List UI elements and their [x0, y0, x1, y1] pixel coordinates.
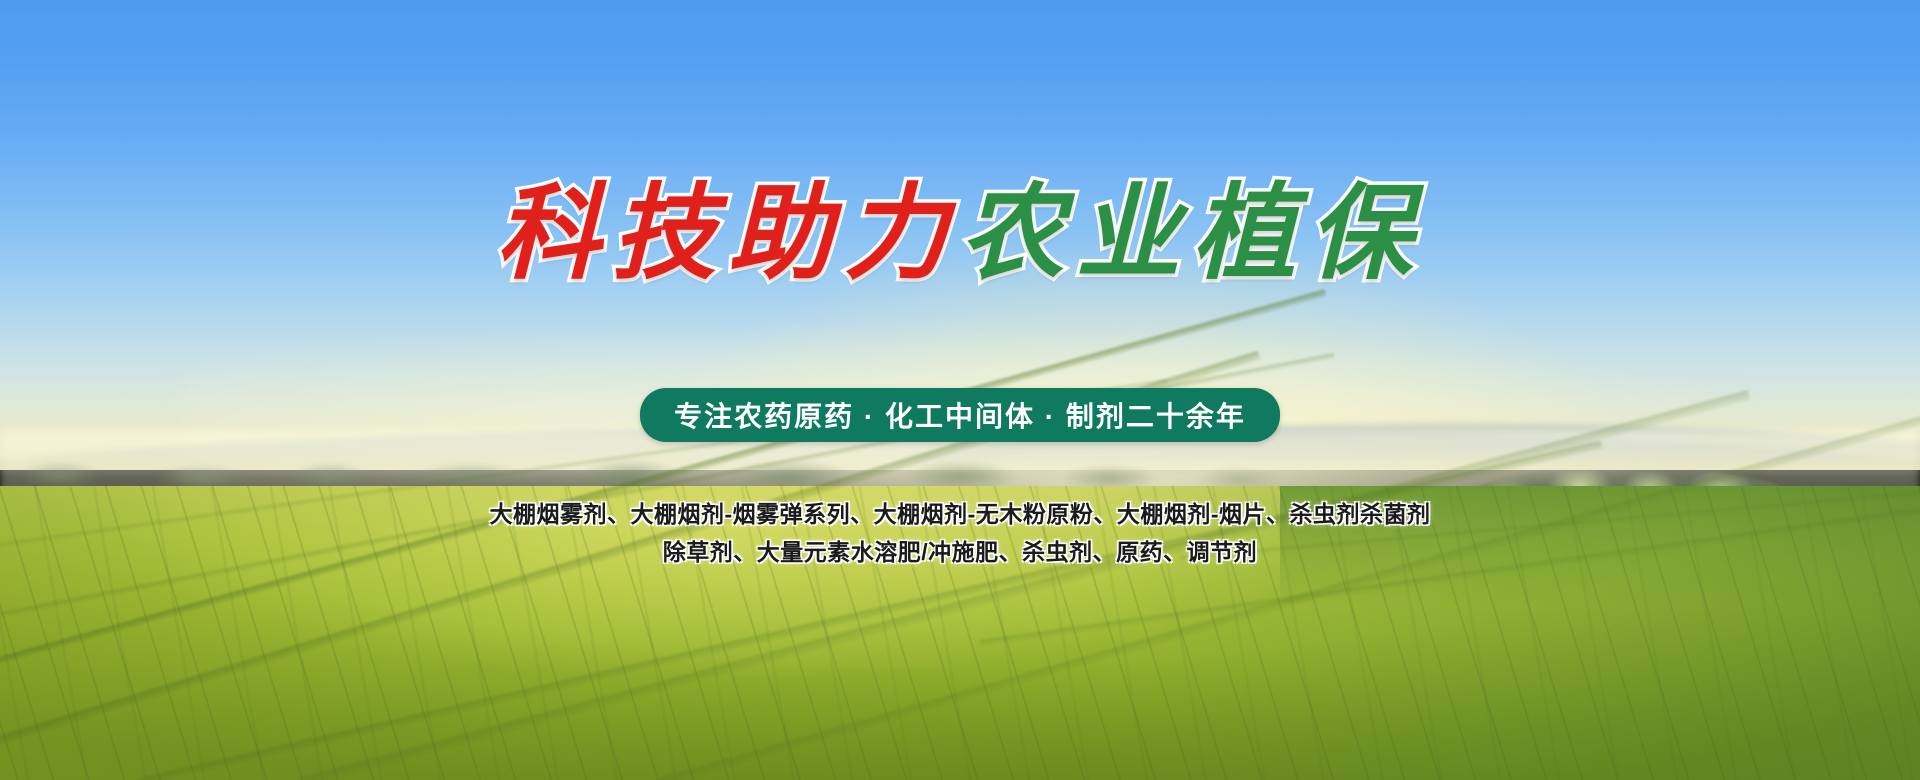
product-line-2: 除草剂、大量元素水溶肥/冲施肥、杀虫剂、原药、调节剂	[0, 533, 1920, 571]
headline-green-part: 农业植保	[960, 176, 1424, 292]
banner-headline: 科技助力农业植保	[0, 182, 1920, 286]
headline-red-part: 科技助力	[496, 176, 960, 292]
product-line-1: 大棚烟雾剂、大棚烟剂-烟雾弹系列、大棚烟剂-无木粉原粉、大棚烟剂-烟片、杀虫剂杀…	[0, 495, 1920, 533]
product-list: 大棚烟雾剂、大棚烟剂-烟雾弹系列、大棚烟剂-无木粉原粉、大棚烟剂-烟片、杀虫剂杀…	[0, 495, 1920, 571]
promo-banner: 科技助力农业植保 专注农药原药 · 化工中间体 · 制剂二十余年 大棚烟雾剂、大…	[0, 0, 1920, 780]
badge-container: 专注农药原药 · 化工中间体 · 制剂二十余年	[0, 388, 1920, 442]
tagline-badge: 专注农药原药 · 化工中间体 · 制剂二十余年	[640, 388, 1280, 442]
